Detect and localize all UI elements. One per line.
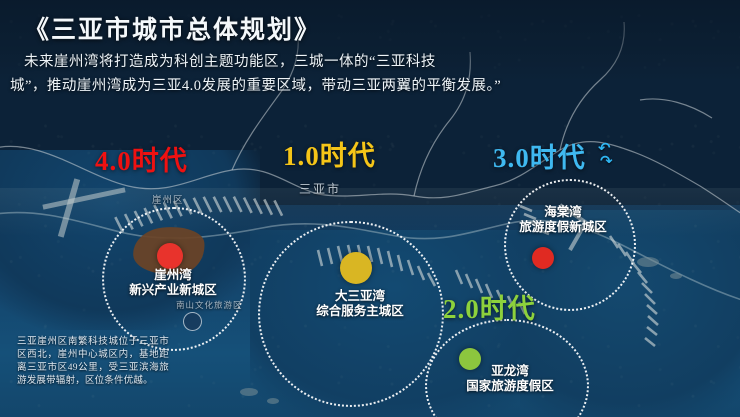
place-label-sanya-city: 三亚市 [299,180,341,197]
zone-label-line2: 综合服务主城区 [300,304,420,319]
zone-label-line2: 新兴产业新城区 [118,283,228,298]
zone-label-line1: 大三亚湾 [300,289,420,304]
zone-label-haitangwan: 海棠湾 旅游度假新城区 [498,205,628,235]
era-label-1: 1.0时代 [283,134,376,173]
page-title: 《三亚市城市总体规划》 [24,10,321,46]
zone-label-line1: 崖州湾 [118,268,228,283]
zone-label-yalongwan: 亚龙湾 国家旅游度假区 [440,364,580,394]
arrow-marker-secondary-icon: ↷ [600,155,613,168]
zone-label-yazhouwan: 崖州湾 新兴产业新城区 [118,268,228,298]
header-subtitle-line-1: 未来崖州湾将打造成为科创主题功能区，三城一体的“三亚科技 [24,52,436,75]
place-label-nanshan: 南山文化旅游区 [176,299,243,311]
sanya-urban-plan-infographic: 4.0时代 1.0时代 3.0时代 2.0时代 崖州湾 新兴产业新城区 大三亚湾… [0,0,740,417]
era-label-3: 3.0时代 [493,136,586,175]
zone-label-line1: 亚龙湾 [440,364,580,379]
marker-nanshan [183,312,202,331]
zone-label-dasanyawan: 大三亚湾 综合服务主城区 [300,289,420,319]
marker-dasanyawan [340,252,372,284]
zone-label-line2: 国家旅游度假区 [440,379,580,394]
era-label-2: 2.0时代 [443,287,536,326]
marker-yazhouwan [157,243,183,269]
header-band: 《三亚市城市总体规划》 未来崖州湾将打造成为科创主题功能区，三城一体的“三亚科技… [0,0,740,82]
zone-label-line1: 海棠湾 [498,205,628,220]
header-subtitle-line-2: 城”，推动崖州湾成为三亚4.0发展的重要区域，带动三亚两翼的平衡发展。” [10,76,730,97]
era-label-4: 4.0时代 [95,139,188,178]
marker-haitangwan [532,247,554,269]
zone-label-line2: 旅游度假新城区 [498,220,628,235]
place-label-yazhou-district: 崖州区 [152,192,184,206]
footnote-caption: 三亚崖州区南繁科技城位于三亚市区西北，崖州中心城区内，基地距离三亚市区49公里，… [17,336,169,388]
